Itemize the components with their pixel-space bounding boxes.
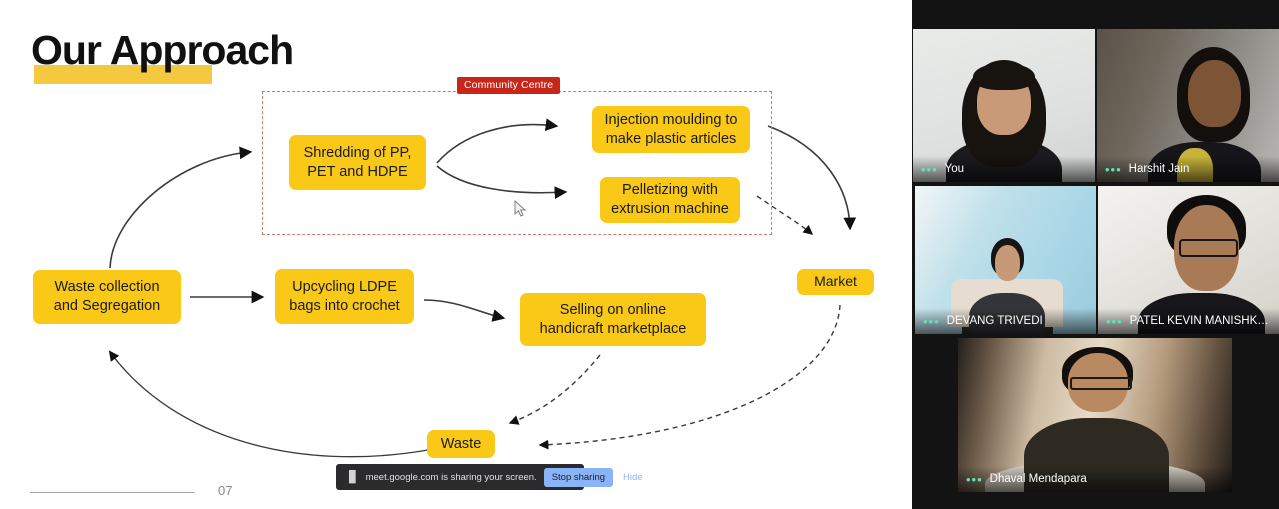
community-centre-label: Community Centre — [457, 77, 560, 94]
participant-tile-you[interactable]: ••• You — [913, 29, 1095, 182]
participant-name-bar: ••• Harshit Jain — [1097, 156, 1279, 182]
stop-sharing-button[interactable]: Stop sharing — [544, 468, 613, 487]
more-options-icon[interactable]: ••• — [1105, 163, 1122, 176]
participant-tile-patel-kevin[interactable]: ••• PATEL KEVIN MANISHK… — [1098, 186, 1279, 334]
more-options-icon[interactable]: ••• — [921, 163, 938, 176]
node-waste-collection[interactable]: Waste collection and Segregation — [33, 270, 181, 324]
mouse-cursor-icon — [514, 200, 528, 218]
screen-share-bar: ▐▌ meet.google.com is sharing your scree… — [336, 464, 584, 490]
node-shredding[interactable]: Shredding of PP, PET and HDPE — [289, 135, 426, 190]
share-message: meet.google.com is sharing your screen. — [366, 472, 537, 483]
participant-tile-devang-trivedi[interactable]: ••• DEVANG TRIVEDI — [915, 186, 1096, 334]
slide-title-group: Our Approach — [31, 30, 293, 71]
more-options-icon[interactable]: ••• — [923, 315, 940, 328]
pause-icon: ▐▌ — [345, 471, 359, 483]
more-options-icon[interactable]: ••• — [1106, 315, 1123, 328]
page-title: Our Approach — [31, 30, 293, 71]
screen-share-window: Our Approach — [0, 0, 1279, 509]
page-number: 07 — [218, 483, 232, 498]
participant-tile-harshit-jain[interactable]: ••• Harshit Jain — [1097, 29, 1279, 182]
footer-rule — [30, 492, 195, 493]
shared-slide: Our Approach — [0, 0, 912, 509]
node-pelletizing[interactable]: Pelletizing with extrusion machine — [600, 177, 740, 223]
participant-name-bar: ••• PATEL KEVIN MANISHK… — [1098, 308, 1279, 334]
node-upcycling-ldpe[interactable]: Upcycling LDPE bags into crochet — [275, 269, 414, 324]
participant-name: Harshit Jain — [1129, 163, 1190, 175]
participant-tile-dhaval-mendapara[interactable]: ••• Dhaval Mendapara — [958, 338, 1232, 492]
participant-name: PATEL KEVIN MANISHK… — [1130, 315, 1269, 327]
participant-grid: ••• You ••• Harshit Jain — [912, 0, 1279, 509]
more-options-icon[interactable]: ••• — [966, 473, 983, 486]
participant-name-bar: ••• DEVANG TRIVEDI — [915, 308, 1096, 334]
participant-name-bar: ••• You — [913, 156, 1095, 182]
hide-button[interactable]: Hide — [623, 472, 643, 483]
participant-name-bar: ••• Dhaval Mendapara — [958, 466, 1232, 492]
participant-name: Dhaval Mendapara — [990, 473, 1087, 485]
node-market[interactable]: Market — [797, 269, 874, 295]
participant-name: You — [945, 163, 964, 175]
participant-name: DEVANG TRIVEDI — [947, 315, 1043, 327]
node-injection-moulding[interactable]: Injection moulding to make plastic artic… — [592, 106, 750, 153]
node-waste[interactable]: Waste — [427, 430, 495, 458]
node-selling-online[interactable]: Selling on online handicraft marketplace — [520, 293, 706, 346]
